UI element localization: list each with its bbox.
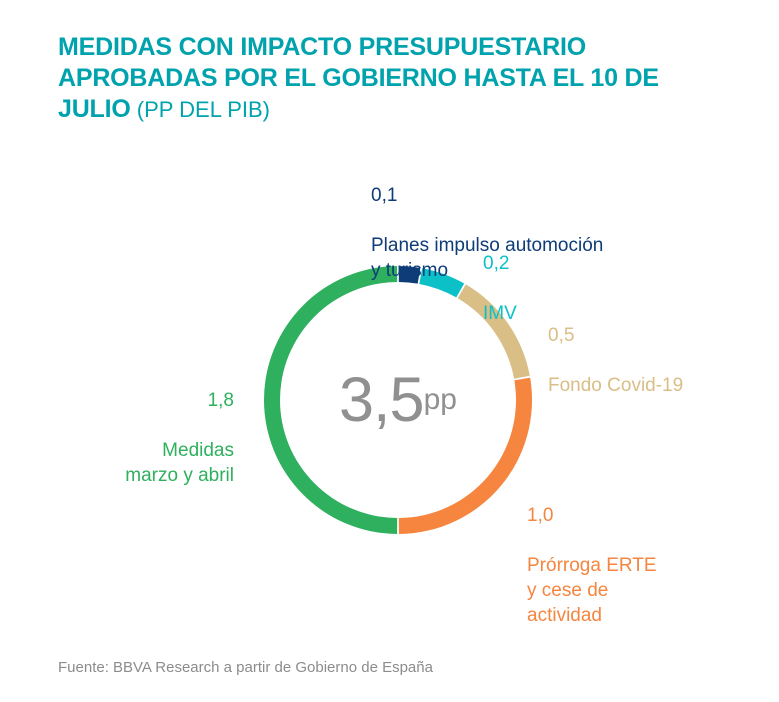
callout-fondo-covid: 0,5 Fondo Covid-19 (548, 298, 683, 423)
page-title: MEDIDAS CON IMPACTO PRESUPUESTARIO APROB… (58, 32, 738, 125)
callout-imv: 0,2 IMV (483, 226, 517, 351)
callout-prorroga-erte: 1,0 Prórroga ERTE y cese de actividad (527, 478, 657, 653)
callout-imv-label: IMV (483, 301, 517, 326)
callout-medidas-label: Medidas marzo y abril (38, 438, 234, 488)
callout-erte-label: Prórroga ERTE y cese de actividad (527, 553, 657, 628)
callout-planes-value: 0,1 (371, 183, 603, 208)
callout-fondo-value: 0,5 (548, 323, 683, 348)
callout-medidas-marzo-abril: 1,8 Medidas marzo y abril (38, 363, 234, 513)
callout-medidas-value: 1,8 (38, 388, 234, 413)
donut-segment (399, 378, 532, 534)
page-title-subtitle: (PP DEL PIB) (131, 97, 270, 122)
source-note: Fuente: BBVA Research a partir de Gobier… (58, 659, 433, 676)
callout-fondo-label: Fondo Covid-19 (548, 373, 683, 398)
callout-imv-value: 0,2 (483, 251, 517, 276)
callout-erte-value: 1,0 (527, 503, 657, 528)
